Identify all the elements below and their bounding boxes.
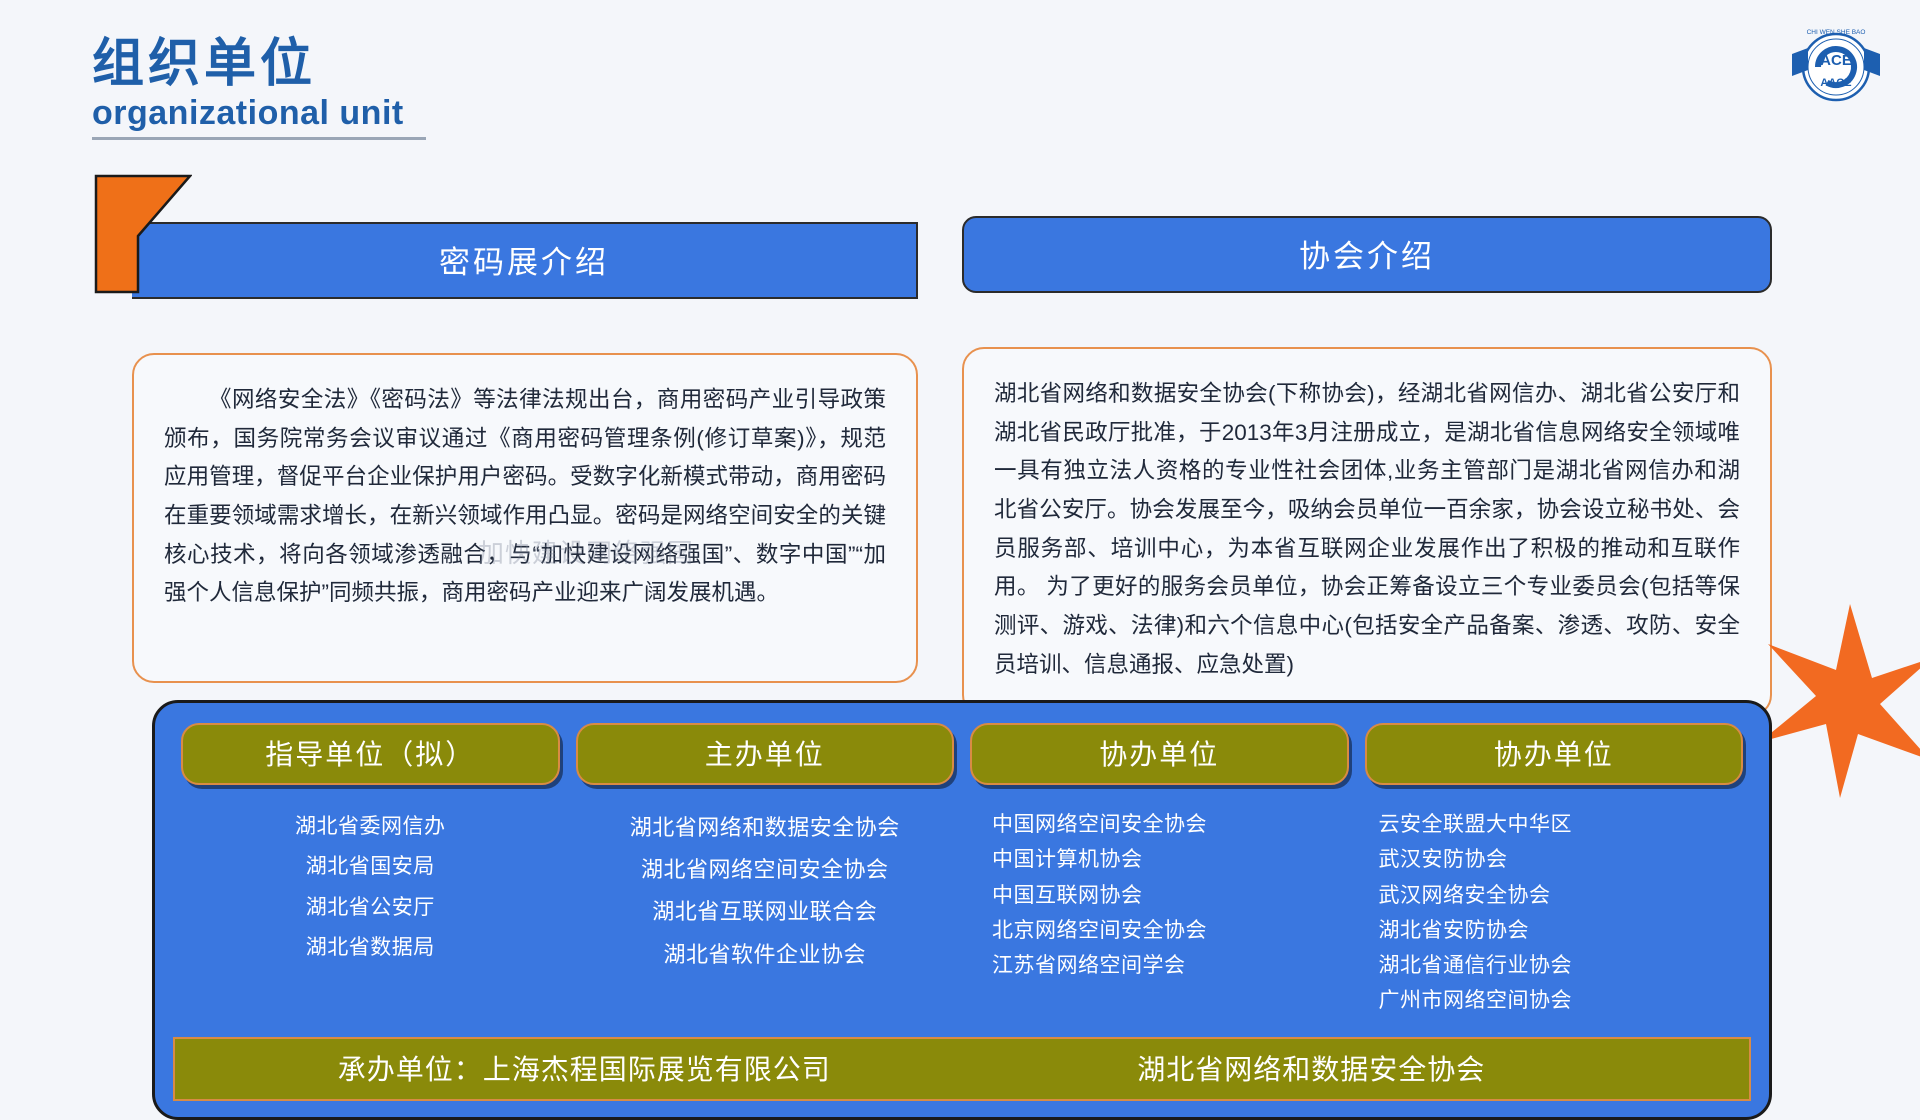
units-grid: 指导单位（拟） 湖北省委网信办 湖北省国安局 湖北省公安厅 湖北省数据局 主办单… [173,723,1751,1019]
list-item: 湖北省委网信办 [181,807,560,847]
list-item: 广州市网络空间协会 [1379,983,1744,1018]
panel-text-crypto-expo: 《网络安全法》《密码法》等法律法规出台，商用密码产业引导政策颁布，国务院常务会议… [164,381,886,613]
svg-text:AACE: AACE [1820,77,1851,89]
list-item: 武汉安防协会 [1379,842,1744,877]
unit-caption-cooperative-2: 协办单位 [1365,723,1744,785]
list-item: 武汉网络安全协会 [1379,878,1744,913]
unit-list-cooperative-1: 中国网络空间安全协会 中国计算机协会 中国互联网协会 北京网络空间安全协会 江苏… [970,807,1349,983]
list-item: 中国计算机协会 [992,842,1349,877]
panel-text-association-intro: 湖北省网络和数据安全协会(下称协会)，经湖北省网信办、湖北省公安厅和湖北省民政厅… [994,375,1740,685]
orange-corner-decoration [94,174,192,294]
list-item: 湖北省数据局 [181,928,560,968]
organizing-units-box: 指导单位（拟） 湖北省委网信办 湖北省国安局 湖北省公安厅 湖北省数据局 主办单… [152,700,1772,1120]
list-item: 江苏省网络空间学会 [992,948,1349,983]
panel-association-intro: 协会介绍 湖北省网络和数据安全协会(下称协会)，经湖北省网信办、湖北省公安厅和湖… [962,216,1772,717]
panel-crypto-expo: 密码展介绍 《网络安全法》《密码法》等法律法规出台，商用密码产业引导政策颁布，国… [132,222,918,683]
list-item: 湖北省安防协会 [1379,913,1744,948]
association-logo: ACE AACE CHI WEN SHE BAO [1788,24,1884,110]
list-item: 云安全联盟大中华区 [1379,807,1744,842]
unit-column-cooperative-1: 协办单位 中国网络空间安全协会 中国计算机协会 中国互联网协会 北京网络空间安全… [962,723,1357,1019]
unit-list-organizer: 湖北省网络和数据安全协会 湖北省网络空间安全协会 湖北省互联网业联合会 湖北省软… [576,807,955,976]
unit-caption-cooperative-1: 协办单位 [970,723,1349,785]
list-item: 湖北省网络和数据安全协会 [576,807,955,849]
page-title-en: organizational unit [92,94,426,140]
list-item: 湖北省公安厅 [181,888,560,928]
orange-star-decoration [1754,600,1920,800]
svg-text:CHI WEN SHE BAO: CHI WEN SHE BAO [1807,29,1866,36]
unit-column-cooperative-2: 协办单位 云安全联盟大中华区 武汉安防协会 武汉网络安全协会 湖北省安防协会 湖… [1357,723,1752,1019]
page-title-cn: 组织单位 [92,36,612,92]
undertaking-unit-left: 承办单位：上海杰程国际展览有限公司 [175,1048,993,1088]
svg-text:ACE: ACE [1820,52,1852,69]
unit-caption-guidance: 指导单位（拟） [181,723,560,785]
panel-header-crypto-expo: 密码展介绍 [132,222,918,299]
unit-caption-organizer: 主办单位 [576,723,955,785]
list-item: 湖北省软件企业协会 [576,934,955,976]
list-item: 湖北省互联网业联合会 [576,891,955,933]
list-item: 湖北省网络空间安全协会 [576,849,955,891]
undertaking-unit-right: 湖北省网络和数据安全协会 [993,1048,1749,1088]
list-item: 湖北省国安局 [181,847,560,887]
page-title-block: 组织单位 organizational unit [92,36,612,140]
list-item: 湖北省通信行业协会 [1379,948,1744,983]
unit-list-guidance: 湖北省委网信办 湖北省国安局 湖北省公安厅 湖北省数据局 [181,807,560,968]
unit-column-organizer: 主办单位 湖北省网络和数据安全协会 湖北省网络空间安全协会 湖北省互联网业联合会… [568,723,963,1019]
list-item: 中国互联网协会 [992,878,1349,913]
unit-column-guidance: 指导单位（拟） 湖北省委网信办 湖北省国安局 湖北省公安厅 湖北省数据局 [173,723,568,1019]
list-item: 北京网络空间安全协会 [992,913,1349,948]
panel-body-association-intro: 湖北省网络和数据安全协会(下称协会)，经湖北省网信办、湖北省公安厅和湖北省民政厅… [962,347,1772,717]
list-item: 中国网络空间安全协会 [992,807,1349,842]
panel-header-association-intro: 协会介绍 [962,216,1772,293]
unit-list-cooperative-2: 云安全联盟大中华区 武汉安防协会 武汉网络安全协会 湖北省安防协会 湖北省通信行… [1365,807,1744,1019]
undertaking-units-bar: 承办单位：上海杰程国际展览有限公司 湖北省网络和数据安全协会 [173,1037,1751,1101]
panel-body-crypto-expo: 《网络安全法》《密码法》等法律法规出台，商用密码产业引导政策颁布，国务院常务会议… [132,353,918,683]
